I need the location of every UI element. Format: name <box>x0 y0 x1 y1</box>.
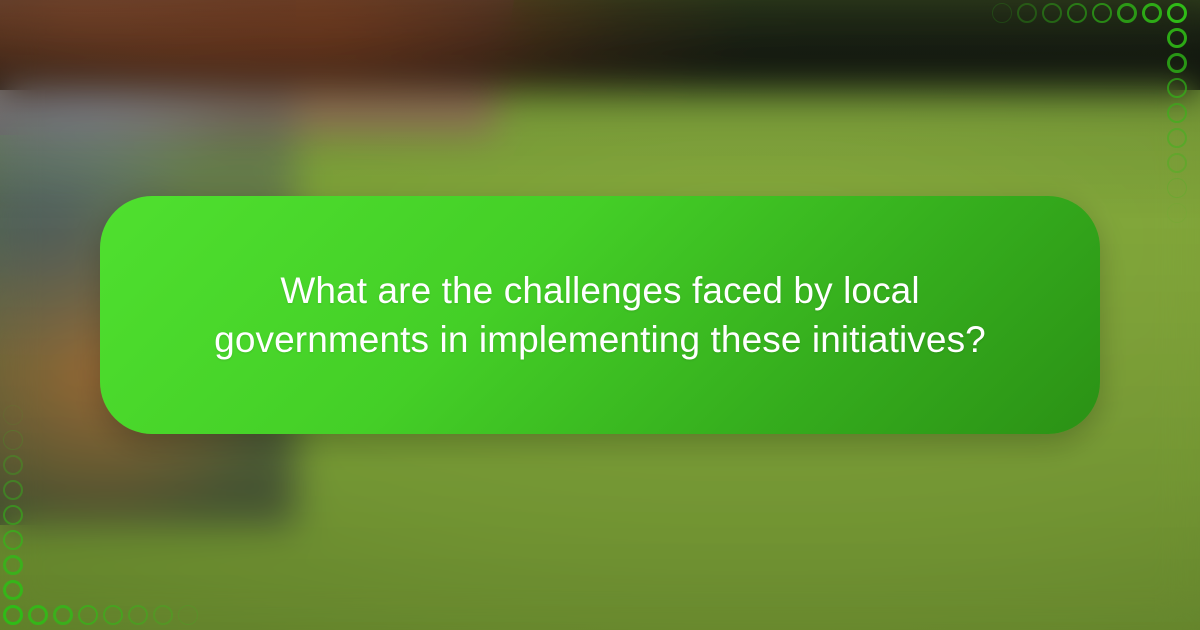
quote-card: What are the challenges faced by local g… <box>100 196 1100 434</box>
decoration-circle <box>3 455 23 475</box>
decoration-circle <box>3 480 23 500</box>
decoration-circle <box>3 580 23 600</box>
decoration-circle <box>3 505 23 525</box>
quote-text: What are the challenges faced by local g… <box>185 266 1015 364</box>
decoration-circle <box>3 555 23 575</box>
decoration-circle <box>3 430 23 450</box>
quote-card-canvas: What are the challenges faced by local g… <box>0 0 1200 630</box>
decoration-circle <box>3 530 23 550</box>
decoration-circle <box>3 405 23 425</box>
